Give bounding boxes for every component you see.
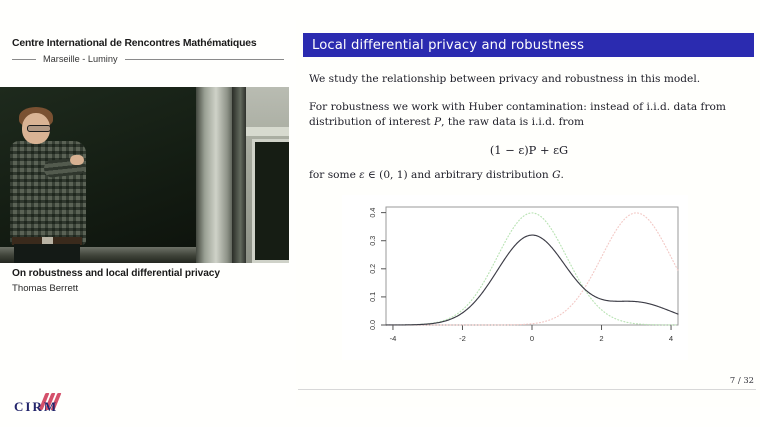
symbol-P: P xyxy=(434,116,441,128)
talk-speaker: Thomas Berrett xyxy=(12,283,288,294)
slide-footer-rule xyxy=(298,389,756,390)
huber-contamination-formula: (1 − ε)P + εG xyxy=(309,143,749,157)
slide-panel: Local differential privacy and robustnes… xyxy=(296,20,760,407)
slide-paragraph-3: for some ε ∈ (0, 1) and arbitrary distri… xyxy=(309,168,749,184)
rule-right xyxy=(125,59,284,60)
board-frame-top xyxy=(245,127,289,136)
y-tick-label: 0.2 xyxy=(368,264,377,274)
p3-line-b: ∈ (0, 1) and arbitrary distribution xyxy=(365,169,552,181)
wall-column-shadow xyxy=(232,87,246,263)
page-number: 7 / 32 xyxy=(730,375,754,385)
x-tick-label: 0 xyxy=(530,334,534,343)
slide-title: Local differential privacy and robustnes… xyxy=(312,38,584,53)
plot-series xyxy=(386,213,678,325)
p2-line-c: , the raw data is i.i.d. from xyxy=(441,116,584,128)
density-plot-svg: 0.00.10.20.30.4-4-2024 xyxy=(342,195,688,360)
symbol-G: G xyxy=(552,169,560,181)
series-curve xyxy=(386,213,678,325)
density-plot: 0.00.10.20.30.4-4-2024 xyxy=(342,195,688,360)
talk-info: On robustness and local differential pri… xyxy=(12,268,288,294)
cirm-logo: CIRM xyxy=(14,392,104,420)
institution-location: Marseille - Luminy xyxy=(43,54,118,64)
y-tick-label: 0.3 xyxy=(368,236,377,246)
institution-header: Centre International de Rencontres Mathé… xyxy=(12,38,292,64)
slide-title-bar: Local differential privacy and robustnes… xyxy=(303,33,754,57)
wall-column xyxy=(196,87,236,263)
y-tick-label: 0.4 xyxy=(368,208,377,218)
blackboard-secondary xyxy=(252,139,289,263)
p3-line-a: for some xyxy=(309,169,359,181)
institution-name: Centre International de Rencontres Mathé… xyxy=(12,38,292,49)
series-curve xyxy=(386,213,678,325)
p3-line-c: . xyxy=(561,169,564,181)
glasses-icon xyxy=(27,125,51,132)
speaker-video[interactable] xyxy=(0,87,289,263)
slide-paragraph-1: We study the relationship between privac… xyxy=(309,72,749,87)
presentation-viewer: Centre International de Rencontres Mathé… xyxy=(0,0,760,427)
rule-left xyxy=(12,59,36,60)
x-tick-label: -4 xyxy=(390,334,397,343)
y-tick-label: 0.0 xyxy=(368,320,377,330)
left-panel: Centre International de Rencontres Mathé… xyxy=(0,0,296,427)
speaker-hand xyxy=(70,155,84,165)
plot-axes xyxy=(381,207,678,330)
talk-title: On robustness and local differential pri… xyxy=(12,268,288,279)
logo-text: CIRM xyxy=(14,399,58,415)
plot-box xyxy=(386,207,678,325)
speaker-legs xyxy=(14,244,80,263)
y-tick-label: 0.1 xyxy=(368,292,377,302)
slide-paragraph-2: For robustness we work with Huber contam… xyxy=(309,100,743,129)
p2-line-a: For robustness we work with Huber contam… xyxy=(309,101,697,113)
institution-location-row: Marseille - Luminy xyxy=(12,54,284,64)
x-tick-label: 4 xyxy=(669,334,673,343)
x-tick-label: -2 xyxy=(459,334,466,343)
x-tick-label: 2 xyxy=(599,334,603,343)
series-curve xyxy=(386,235,678,325)
